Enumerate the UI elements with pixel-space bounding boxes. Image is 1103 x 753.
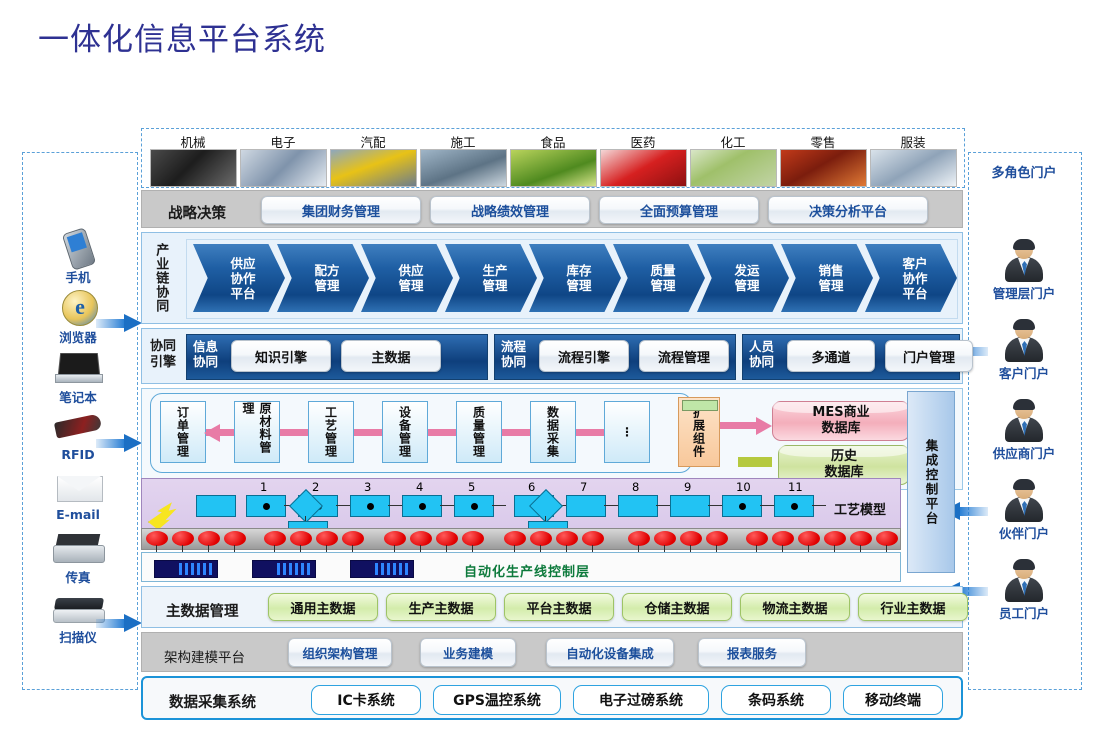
person-icon <box>1002 240 1046 282</box>
sensor-dot-23 <box>798 531 820 546</box>
process-model-band: 1234567891011 工艺模型 <box>141 478 901 534</box>
food-photo <box>510 149 597 187</box>
process-link <box>388 505 402 506</box>
coop-group-2: 流程协同流程引擎流程管理 <box>494 334 736 380</box>
database-1[interactable]: MES商业数据库 <box>772 401 910 441</box>
industry-item-7: 化工 <box>690 132 776 187</box>
industry-chain-band: 产业链协同 供应协作平台配方管理供应管理生产管理库存管理质量管理发运管理销售管理… <box>141 232 963 324</box>
channel-label: E-mail <box>22 507 134 522</box>
construction-photo <box>420 149 507 187</box>
chemical-photo <box>690 149 777 187</box>
process-node-number-6: 6 <box>528 480 535 494</box>
page-title: 一体化信息平台系统 <box>38 14 326 59</box>
history-db-connector <box>738 457 772 467</box>
process-node-number-8: 8 <box>632 480 639 494</box>
sensor-dot-6 <box>290 531 312 546</box>
process-node-number-4: 4 <box>416 480 423 494</box>
process-node-number-5: 5 <box>468 480 475 494</box>
coop-button-3-1[interactable]: 多通道 <box>787 340 875 372</box>
person-icon <box>1002 400 1046 442</box>
architecture-button-2[interactable]: 业务建模 <box>420 638 516 667</box>
chain-step-label: 库存管理 <box>558 263 591 293</box>
master-data-label: 主数据管理 <box>166 600 239 621</box>
chain-step-label: 供应管理 <box>390 263 423 293</box>
electronics-photo <box>240 149 327 187</box>
architecture-band: 架构建模平台 组织架构管理业务建模自动化设备集成报表服务 <box>141 632 963 672</box>
coop-button-2-1[interactable]: 流程引擎 <box>539 340 629 372</box>
sensor-dot-2 <box>172 531 194 546</box>
sensor-dot-12 <box>462 531 484 546</box>
sensor-dot-21 <box>746 531 768 546</box>
sensor-dot-1 <box>146 531 168 546</box>
sensor-rail <box>141 528 901 550</box>
coop-button-2-2[interactable]: 流程管理 <box>639 340 729 372</box>
chain-label: 产业链协同 <box>152 243 176 318</box>
industry-item-3: 汽配 <box>330 132 416 187</box>
collection-button-5[interactable]: 移动终端 <box>843 685 943 715</box>
diagram-canvas: 一体化信息平台系统 手机e浏览器笔记本RFIDE-mail传真扫描仪 多角色门户… <box>0 0 1103 753</box>
mes-connector-3 <box>354 429 382 436</box>
strategy-button-1[interactable]: 集团财务管理 <box>261 196 421 224</box>
process-node-number-7: 7 <box>580 480 587 494</box>
architecture-button-1[interactable]: 组织架构管理 <box>288 638 392 667</box>
plc-rack-icon-3 <box>350 560 414 578</box>
process-node-9[interactable] <box>670 495 710 517</box>
automation-label: 自动化生产线控制层 <box>464 561 590 580</box>
industry-item-4: 施工 <box>420 132 506 187</box>
chain-step-7[interactable]: 发运管理 <box>697 244 789 312</box>
industry-label: 电子 <box>240 132 326 148</box>
mes-connector-2 <box>280 429 308 436</box>
portal-label: 客户门户 <box>969 363 1079 382</box>
architecture-label: 架构建模平台 <box>164 646 245 666</box>
channel-label: 手机 <box>22 267 134 286</box>
sensor-dot-19 <box>680 531 702 546</box>
chain-arrow-row: 供应协作平台配方管理供应管理生产管理库存管理质量管理发运管理销售管理客户协作平台 <box>186 239 958 319</box>
process-link <box>656 505 670 506</box>
industry-strip: 机械电子汽配施工食品医药化工零售服装 <box>141 128 965 188</box>
apparel-photo <box>870 149 957 187</box>
sensor-dot-16 <box>582 531 604 546</box>
platform-stack: 机械电子汽配施工食品医药化工零售服装 战略决策 集团财务管理战略绩效管理全面预算… <box>141 128 963 700</box>
sensor-dot-18 <box>654 531 676 546</box>
process-node-number-11: 11 <box>788 480 803 494</box>
laptop-icon <box>51 348 105 386</box>
master-data-button-6[interactable]: 行业主数据 <box>858 593 968 621</box>
extension-chip-icon <box>682 400 718 411</box>
process-link <box>492 505 506 506</box>
channel-item-6: 传真 <box>22 528 134 586</box>
coop-button-1-1[interactable]: 知识引擎 <box>231 340 331 372</box>
process-node-10[interactable] <box>722 495 762 517</box>
mes-zone: 订单管理原材料管理工艺管理设备管理质量管理数据采集⋮扩展组件 MES商业数据库历… <box>141 388 963 490</box>
chain-step-3[interactable]: 供应管理 <box>361 244 453 312</box>
industry-label: 化工 <box>690 132 776 148</box>
portal-item-3[interactable]: 供应商门户 <box>969 400 1079 462</box>
sensor-dot-11 <box>436 531 458 546</box>
process-node-11[interactable] <box>774 495 814 517</box>
process-model-label: 工艺模型 <box>834 499 886 518</box>
mes-to-db-arrow-icon <box>756 417 772 435</box>
industry-label: 食品 <box>510 132 596 148</box>
plc-rack-icon-2 <box>252 560 316 578</box>
sensor-dot-25 <box>850 531 872 546</box>
sensor-dot-17 <box>628 531 650 546</box>
mes-connector-6 <box>576 429 604 436</box>
industry-item-9: 服装 <box>870 132 956 187</box>
mes-module-4[interactable]: 设备管理 <box>382 401 428 463</box>
strategy-button-3[interactable]: 全面预算管理 <box>599 196 759 224</box>
chain-step-label: 客户协作平台 <box>894 256 927 301</box>
portal-label: 伙伴门户 <box>969 523 1079 542</box>
process-link <box>708 505 722 506</box>
process-node-1[interactable] <box>246 495 286 517</box>
mes-connector-4 <box>428 429 456 436</box>
chain-step-1[interactable]: 供应协作平台 <box>193 244 285 312</box>
strategy-label: 战略决策 <box>168 202 226 223</box>
chain-step-label: 销售管理 <box>810 263 843 293</box>
architecture-button-4[interactable]: 报表服务 <box>698 638 806 667</box>
sensor-dot-5 <box>264 531 286 546</box>
process-link <box>604 505 618 506</box>
master-data-button-1[interactable]: 通用主数据 <box>268 593 378 621</box>
industry-label: 零售 <box>780 132 866 148</box>
pharma-photo <box>600 149 687 187</box>
channel-flow-arrow-2 <box>96 314 142 332</box>
coop-group-1: 信息协同知识引擎主数据 <box>186 334 488 380</box>
chain-step-label: 发运管理 <box>726 263 759 293</box>
sensor-dot-3 <box>198 531 220 546</box>
chain-step-9[interactable]: 客户协作平台 <box>865 244 957 312</box>
chain-step-label: 配方管理 <box>306 263 339 293</box>
strategy-button-4[interactable]: 决策分析平台 <box>768 196 928 224</box>
chain-step-8[interactable]: 销售管理 <box>781 244 873 312</box>
chain-step-2[interactable]: 配方管理 <box>277 244 369 312</box>
mes-left-arrow-icon <box>204 424 220 442</box>
process-link <box>336 505 350 506</box>
channel-item-1: 手机 <box>22 228 134 286</box>
mes-module-3[interactable]: 工艺管理 <box>308 401 354 463</box>
industry-item-1: 机械 <box>150 132 236 187</box>
sensor-dot-13 <box>504 531 526 546</box>
collection-button-3[interactable]: 电子过磅系统 <box>573 685 709 715</box>
master-data-button-2[interactable]: 生产主数据 <box>386 593 496 621</box>
automation-control-layer: 自动化生产线控制层 <box>141 552 901 582</box>
portal-rail-header: 多角色门户 <box>968 162 1080 181</box>
sensor-dot-8 <box>342 531 364 546</box>
sensor-dot-15 <box>556 531 578 546</box>
strategy-button-2[interactable]: 战略绩效管理 <box>430 196 590 224</box>
coop-button-3-2[interactable]: 门户管理 <box>885 340 973 372</box>
industry-item-5: 食品 <box>510 132 596 187</box>
chain-step-label: 质量管理 <box>642 263 675 293</box>
person-icon <box>1002 320 1046 362</box>
channel-item-3: 笔记本 <box>22 348 134 406</box>
chain-step-label: 供应协作平台 <box>222 256 255 301</box>
database-label: 历史数据库 <box>824 449 863 482</box>
mes-module-2[interactable]: 原材料管理 <box>234 401 280 463</box>
mes-module-7[interactable]: ⋮ <box>604 401 650 463</box>
channel-flow-arrow-7 <box>96 614 142 632</box>
chain-step-4[interactable]: 生产管理 <box>445 244 537 312</box>
power-bolt-icon <box>148 501 194 531</box>
database-label: MES商业数据库 <box>812 405 869 438</box>
collection-button-4[interactable]: 条码系统 <box>721 685 831 715</box>
process-node-3[interactable] <box>350 495 390 517</box>
master-data-band: 主数据管理 通用主数据生产主数据平台主数据仓储主数据物流主数据行业主数据 <box>141 586 963 628</box>
sensor-dot-26 <box>876 531 898 546</box>
coop-group-title: 信息协同 <box>193 340 218 370</box>
coop-group-title: 人员协同 <box>749 340 774 370</box>
coop-engine-label: 协同引擎 <box>150 339 180 372</box>
process-node-7[interactable] <box>566 495 606 517</box>
architecture-button-3[interactable]: 自动化设备集成 <box>546 638 674 667</box>
portal-label: 员工门户 <box>969 603 1079 622</box>
machinery-photo <box>150 149 237 187</box>
industry-label: 机械 <box>150 132 236 148</box>
collaboration-engine-band: 协同引擎 信息协同知识引擎主数据流程协同流程引擎流程管理人员协同多通道门户管理 <box>141 328 963 384</box>
mes-module-5[interactable]: 质量管理 <box>456 401 502 463</box>
sensor-dot-10 <box>410 531 432 546</box>
envelope-icon <box>51 468 105 506</box>
process-node-8[interactable] <box>618 495 658 517</box>
chain-step-6[interactable]: 质量管理 <box>613 244 705 312</box>
data-collection-band: 数据采集系统 IC卡系统GPS温控系统电子过磅系统条码系统移动终端 <box>141 676 963 720</box>
plc-rack-icon-1 <box>154 560 218 578</box>
strategy-band: 战略决策 集团财务管理战略绩效管理全面预算管理决策分析平台 <box>141 190 963 228</box>
collection-label: 数据采集系统 <box>169 691 256 712</box>
channel-flow-arrow-4 <box>96 434 142 452</box>
sensor-dot-7 <box>316 531 338 546</box>
process-node-number-9: 9 <box>684 480 691 494</box>
sensor-dot-9 <box>384 531 406 546</box>
process-link <box>812 505 826 506</box>
process-node-number-3: 3 <box>364 480 371 494</box>
retail-photo <box>780 149 867 187</box>
chain-step-label: 生产管理 <box>474 263 507 293</box>
portal-item-1[interactable]: 管理层门户 <box>969 240 1079 302</box>
sensor-dot-14 <box>530 531 552 546</box>
master-data-button-5[interactable]: 物流主数据 <box>740 593 850 621</box>
mes-connector-5 <box>502 429 530 436</box>
chain-step-5[interactable]: 库存管理 <box>529 244 621 312</box>
coop-group-3: 人员协同多通道门户管理 <box>742 334 960 380</box>
industry-label: 医药 <box>600 132 686 148</box>
industry-item-2: 电子 <box>240 132 326 187</box>
process-node-4[interactable] <box>402 495 442 517</box>
industry-item-8: 零售 <box>780 132 866 187</box>
sensor-dot-4 <box>224 531 246 546</box>
process-node-number-2: 2 <box>312 480 319 494</box>
sensor-dot-24 <box>824 531 846 546</box>
mes-to-db-connector <box>720 422 758 429</box>
channel-label: 笔记本 <box>22 387 134 406</box>
collection-button-2[interactable]: GPS温控系统 <box>433 685 561 715</box>
industry-label: 汽配 <box>330 132 416 148</box>
channel-item-5: E-mail <box>22 468 134 522</box>
person-icon <box>1002 480 1046 522</box>
portal-label: 管理层门户 <box>969 283 1079 302</box>
process-link <box>440 505 454 506</box>
collection-button-1[interactable]: IC卡系统 <box>311 685 421 715</box>
process-node-5[interactable] <box>454 495 494 517</box>
integration-control-panel: 集成控制平台 <box>907 391 955 573</box>
coop-group-title: 流程协同 <box>501 340 526 370</box>
sensor-dot-20 <box>706 531 728 546</box>
process-node-start <box>196 495 236 517</box>
channel-label: 传真 <box>22 567 134 586</box>
portal-label: 供应商门户 <box>969 443 1079 462</box>
process-node-number-1: 1 <box>260 480 267 494</box>
process-link <box>760 505 774 506</box>
master-data-button-3[interactable]: 平台主数据 <box>504 593 614 621</box>
mes-module-1[interactable]: 订单管理 <box>160 401 206 463</box>
master-data-button-4[interactable]: 仓储主数据 <box>622 593 732 621</box>
fax-machine-icon <box>51 528 105 566</box>
sensor-dot-22 <box>772 531 794 546</box>
mes-module-6[interactable]: 数据采集 <box>530 401 576 463</box>
mobile-phone-icon <box>51 228 105 266</box>
industry-label: 服装 <box>870 132 956 148</box>
industry-item-6: 医药 <box>600 132 686 187</box>
coop-button-1-2[interactable]: 主数据 <box>341 340 441 372</box>
industry-label: 施工 <box>420 132 506 148</box>
process-node-number-10: 10 <box>736 480 751 494</box>
person-icon <box>1002 560 1046 602</box>
auto-parts-photo <box>330 149 417 187</box>
